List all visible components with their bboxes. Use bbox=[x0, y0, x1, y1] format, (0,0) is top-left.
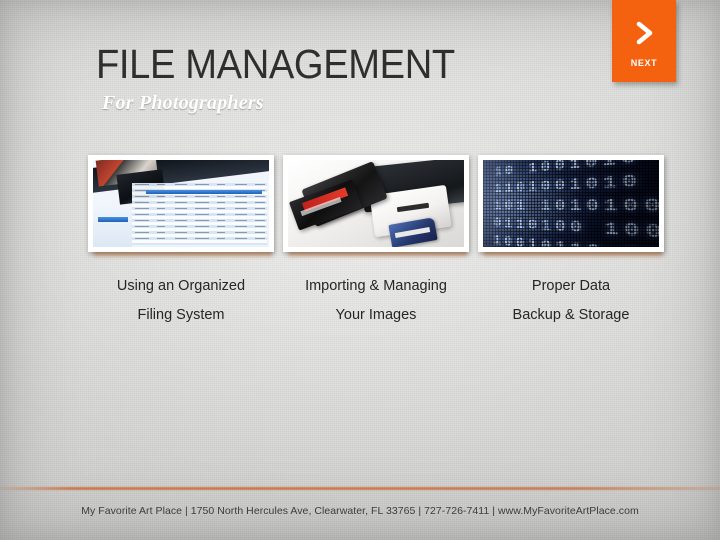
title-block: FILE MANAGEMENT For Photographers bbox=[96, 44, 482, 115]
explorer-selected-folder bbox=[98, 217, 128, 221]
card-backup-storage: 10 1001010 0 1101001010 101 1010100 0110… bbox=[478, 155, 664, 330]
next-button[interactable]: NEXT bbox=[612, 0, 676, 82]
screen-sheen bbox=[483, 160, 659, 247]
caption-line-1: Proper Data bbox=[478, 272, 664, 301]
caption-line-1: Importing & Managing bbox=[283, 272, 469, 301]
caption-line-2: Backup & Storage bbox=[478, 301, 664, 330]
caption-line-1: Using an Organized bbox=[88, 272, 274, 301]
thumbnail-wrapper bbox=[88, 155, 274, 252]
card-importing-managing: Importing & Managing Your Images bbox=[283, 155, 469, 330]
explorer-selected-row bbox=[146, 190, 262, 195]
chevron-right-icon bbox=[612, 20, 676, 50]
caption-line-2: Your Images bbox=[283, 301, 469, 330]
next-button-label: NEXT bbox=[612, 58, 676, 68]
file-explorer-listing-thumbnail[interactable] bbox=[88, 155, 274, 252]
binary-data-screen-thumbnail[interactable]: 10 1001010 0 1101001010 101 1010100 0110… bbox=[478, 155, 664, 252]
memory-card-readers-thumbnail[interactable] bbox=[283, 155, 469, 252]
explorer-sidebar bbox=[93, 209, 132, 247]
card-filing-system: Using an Organized Filing System bbox=[88, 155, 274, 330]
page-subtitle: For Photographers bbox=[102, 92, 482, 115]
thumbnail-wrapper: 10 1001010 0 1101001010 101 1010100 0110… bbox=[478, 155, 664, 252]
page-title: FILE MANAGEMENT bbox=[96, 44, 455, 86]
footer-divider bbox=[0, 487, 720, 490]
footer-contact-info: My Favorite Art Place | 1750 North Hercu… bbox=[0, 505, 720, 517]
card-row: Using an Organized Filing System bbox=[88, 155, 664, 330]
presentation-slide: NEXT FILE MANAGEMENT For Photographers bbox=[0, 0, 720, 540]
card-caption: Using an Organized Filing System bbox=[88, 272, 274, 330]
card-caption: Proper Data Backup & Storage bbox=[478, 272, 664, 330]
thumbnail-wrapper bbox=[283, 155, 469, 252]
caption-line-2: Filing System bbox=[88, 301, 274, 330]
card-caption: Importing & Managing Your Images bbox=[283, 272, 469, 330]
